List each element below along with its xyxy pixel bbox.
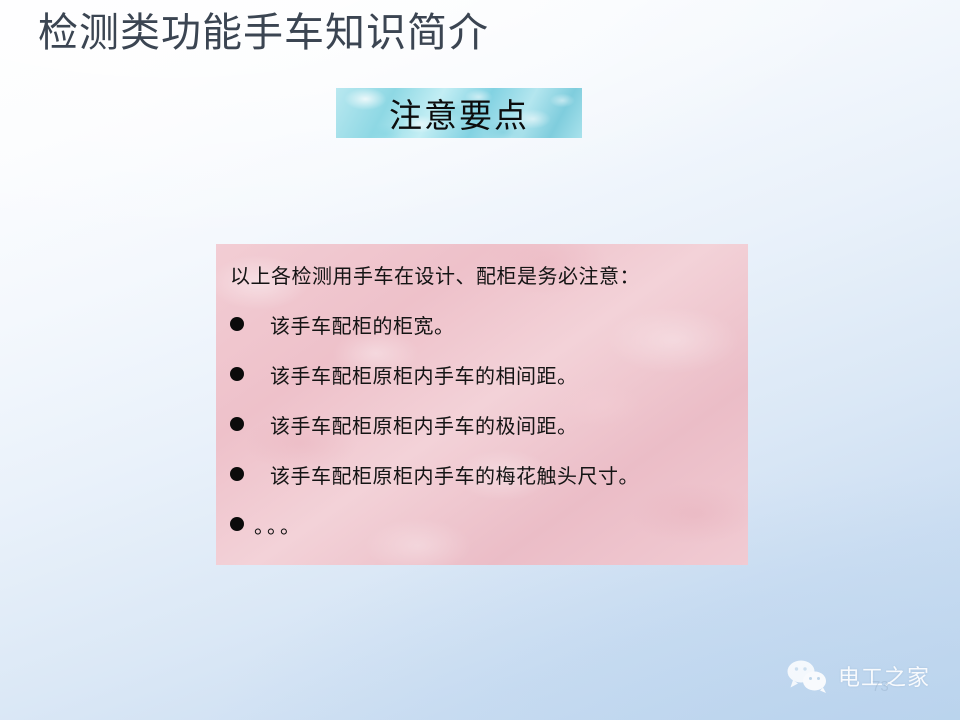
bullet-circle-icon (230, 467, 244, 481)
lead-line: 以上各检测用手车在设计、配柜是务必注意： (230, 264, 734, 290)
bullet-list: 该手车配柜的柜宽。 该手车配柜原柜内手车的相间距。 该手车配柜原柜内手车的极间距… (230, 315, 734, 540)
watermark: 电工之家 (786, 658, 930, 694)
content-box-inner: 以上各检测用手车在设计、配柜是务必注意： 该手车配柜的柜宽。 该手车配柜原柜内手… (216, 244, 748, 540)
list-item: 该手车配柜原柜内手车的梅花触头尺寸。 (230, 465, 734, 490)
bullet-circle-icon (230, 417, 244, 431)
list-item: 。。。 (230, 515, 734, 540)
bullet-circle-icon (230, 367, 244, 381)
page-title: 检测类功能手车知识简介 (38, 8, 489, 58)
bullet-circle-icon (230, 517, 244, 531)
notice-banner: 注意要点 (336, 88, 582, 138)
content-box: 以上各检测用手车在设计、配柜是务必注意： 该手车配柜的柜宽。 该手车配柜原柜内手… (216, 244, 748, 565)
bullet-circle-icon (230, 317, 244, 331)
wechat-icon (786, 658, 830, 694)
list-item-label: 该手车配柜的柜宽。 (270, 315, 455, 340)
list-item-label: 该手车配柜原柜内手车的相间距。 (270, 365, 578, 390)
notice-banner-label: 注意要点 (389, 89, 529, 137)
page-number: 73 (872, 678, 889, 695)
list-item-label: 。。。 (254, 515, 303, 540)
list-item: 该手车配柜原柜内手车的极间距。 (230, 415, 734, 440)
list-item-label: 该手车配柜原柜内手车的极间距。 (270, 415, 578, 440)
slide-canvas: 检测类功能手车知识简介 注意要点 以上各检测用手车在设计、配柜是务必注意： 该手… (0, 0, 960, 720)
list-item: 该手车配柜的柜宽。 (230, 315, 734, 340)
list-item-label: 该手车配柜原柜内手车的梅花触头尺寸。 (270, 465, 639, 490)
list-item: 该手车配柜原柜内手车的相间距。 (230, 365, 734, 390)
